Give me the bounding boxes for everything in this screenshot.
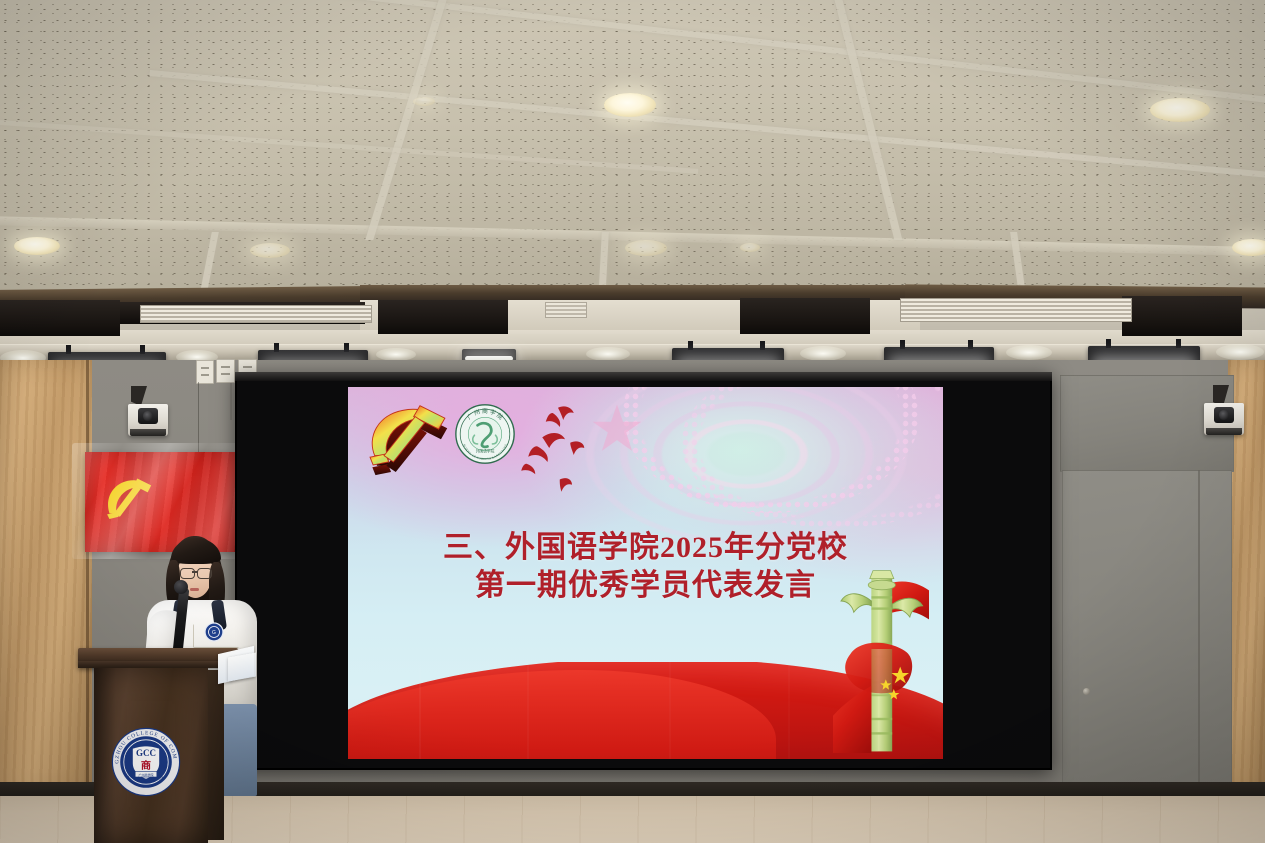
recessed-downlight: [1232, 239, 1265, 256]
hvac-vent-grille: [140, 305, 372, 323]
huabiao-column-icon: [833, 563, 929, 759]
screen-top-bezel: [235, 372, 1052, 381]
mouth: [190, 588, 199, 591]
ceiling: [0, 0, 1265, 300]
fixture-yoke: [1176, 339, 1181, 348]
fixture-yoke: [344, 343, 349, 352]
rail-spot-glow: [800, 346, 846, 361]
college-seal-icon: GCC 商 广州商学院 GUANGZHOU COLLEGE OF COMMERC…: [110, 726, 182, 798]
eyeglasses-left-lens: [180, 568, 195, 579]
service-door-right[interactable]: [1062, 470, 1232, 802]
rail-spot-glow: [586, 347, 630, 361]
wall-power-outlet[interactable]: [216, 359, 235, 383]
flying-doves-icon: [516, 399, 621, 504]
hvac-vent-grille: [545, 302, 587, 318]
rail-spot-glow: [1216, 344, 1264, 360]
fixture-yoke: [274, 343, 279, 352]
speaker-driver: [1214, 407, 1233, 424]
jacket-badge-icon: G: [204, 622, 224, 642]
svg-text:GCC: GCC: [136, 748, 156, 758]
microphone-head: [174, 580, 188, 594]
fixture-yoke: [140, 345, 145, 354]
fixture-yoke: [968, 340, 973, 349]
slide-title-line-1: 三、外国语学院2025年分党校: [348, 529, 943, 567]
recessed-downlight: [604, 93, 656, 117]
rail-spot-glow: [1006, 345, 1052, 360]
svg-text:外国语学院: 外国语学院: [476, 449, 495, 454]
university-seal-icon: 广 州 商 学 院 SCHOOL OF FOREIGN LANGUAGES 外国…: [454, 403, 516, 465]
ribbon-fold: [788, 662, 790, 759]
ribbon-fold: [419, 662, 421, 759]
led-display-screen: 广 州 商 学 院 SCHOOL OF FOREIGN LANGUAGES 外国…: [235, 372, 1052, 770]
ceiling-recess: [0, 300, 120, 336]
ceiling-perforation-pattern-secondary: [0, 0, 1265, 300]
ribbon-fold: [669, 662, 671, 759]
fixture-yoke: [760, 341, 765, 350]
recessed-downlight: [740, 243, 760, 252]
recessed-downlight: [1150, 98, 1210, 122]
svg-text:G: G: [212, 630, 216, 636]
podium-side-face: [208, 670, 224, 840]
auditorium-scene: 广 州 商 学 院 SCHOOL OF FOREIGN LANGUAGES 外国…: [0, 0, 1265, 843]
recessed-downlight: [14, 237, 60, 255]
ceiling-recess: [740, 298, 870, 334]
eyeglasses-right-lens: [197, 568, 212, 579]
eyeglasses-bridge: [192, 571, 198, 573]
presentation-slide: 广 州 商 学 院 SCHOOL OF FOREIGN LANGUAGES 外国…: [348, 387, 943, 759]
fixture-yoke: [900, 340, 905, 349]
party-emblem-3d-icon: [362, 401, 456, 479]
hvac-vent-grille: [900, 298, 1132, 322]
ceiling-recess: [378, 300, 508, 334]
fixture-yoke: [66, 345, 71, 354]
speaker-base: [130, 429, 167, 436]
wall-power-outlet[interactable]: [196, 360, 214, 384]
wall-mounted-speaker-right: [1204, 403, 1244, 435]
ceiling-recess: [1122, 296, 1242, 336]
hammer-and-sickle-icon: [99, 468, 157, 526]
hanging-cable: [198, 382, 199, 452]
speaker-driver: [138, 408, 157, 425]
speech-notes-paper-2[interactable]: [228, 653, 256, 682]
svg-text:商: 商: [141, 759, 151, 772]
door-edge-line: [1198, 470, 1200, 800]
wall-mounted-speaker-left: [128, 404, 168, 436]
svg-text:广州商学院: 广州商学院: [138, 772, 153, 777]
fixture-yoke: [1106, 339, 1111, 348]
recessed-downlight: [625, 240, 667, 256]
door-knob[interactable]: [1083, 688, 1090, 695]
speaker-base: [1206, 428, 1243, 435]
recessed-downlight: [413, 97, 435, 106]
ribbon-fold: [527, 662, 529, 759]
fixture-yoke: [688, 341, 693, 350]
recessed-downlight: [250, 243, 290, 258]
podium-top-edge: [78, 661, 230, 668]
